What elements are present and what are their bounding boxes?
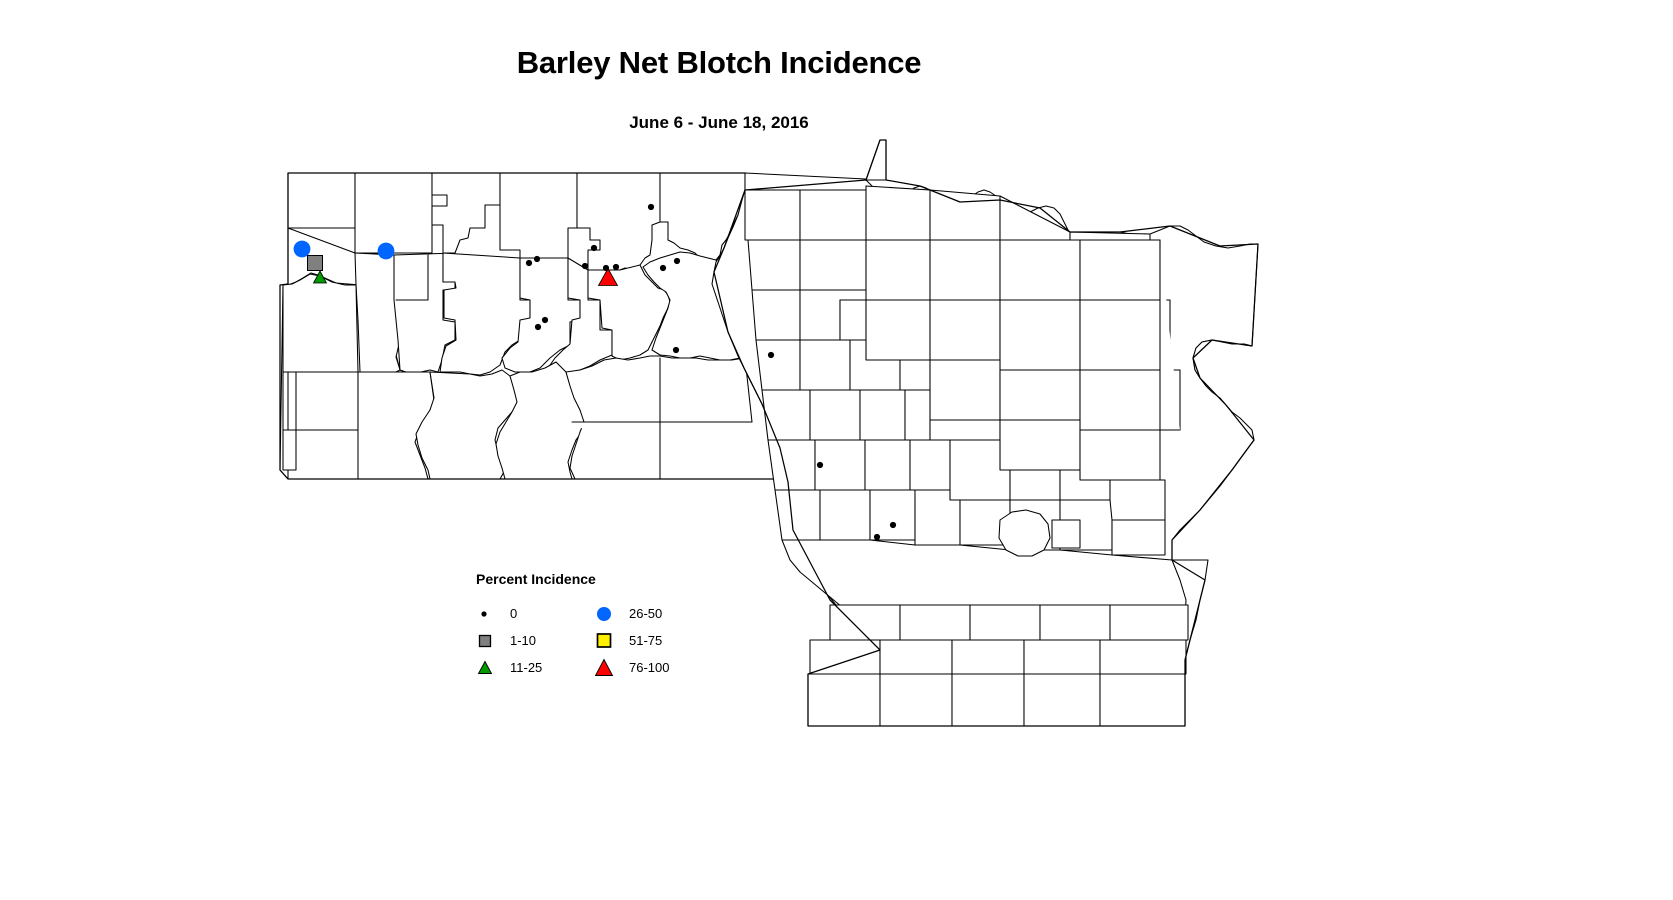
- legend-item-11-25: 11-25: [476, 656, 596, 683]
- red-triangle-icon: [595, 656, 621, 680]
- north-dakota-counties: [280, 173, 787, 479]
- yellow-square-icon: [595, 629, 621, 653]
- legend-label-1-10: 1-10: [510, 632, 536, 650]
- legend-item-1-10: 1-10: [476, 629, 596, 656]
- map-marker-small-black-dot: [603, 265, 609, 271]
- map-marker-small-black-dot: [534, 256, 540, 262]
- map-marker-small-black-dot: [591, 245, 597, 251]
- map-canvas: [0, 0, 1673, 900]
- legend-label-51-75: 51-75: [629, 632, 662, 650]
- blue-circle-icon: [595, 602, 621, 626]
- map-marker-gray-square: [308, 256, 323, 271]
- map-marker-small-black-dot: [768, 352, 774, 358]
- legend-column-left: 0 1-10 11-25: [476, 602, 596, 683]
- legend-column-right: 26-50 51-75 76-100: [595, 602, 715, 683]
- map-marker-small-black-dot: [674, 258, 680, 264]
- map-legend: Percent Incidence 0 1-10 11-25: [476, 570, 706, 680]
- legend-label-76-100: 76-100: [629, 659, 669, 677]
- map-marker-small-black-dot: [817, 462, 823, 468]
- legend-label-0: 0: [510, 605, 517, 623]
- green-triangle-icon: [476, 656, 502, 680]
- small-black-dot-icon: [476, 602, 502, 626]
- map-figure: Barley Net Blotch Incidence June 6 - Jun…: [0, 0, 1673, 900]
- map-marker-small-black-dot: [582, 263, 588, 269]
- map-marker-blue-circle: [378, 243, 395, 260]
- map-marker-small-black-dot: [542, 317, 548, 323]
- legend-item-76-100: 76-100: [595, 656, 715, 683]
- map-marker-small-black-dot: [874, 534, 880, 540]
- map-marker-blue-circle: [294, 241, 311, 258]
- map-marker-small-black-dot: [673, 347, 679, 353]
- legend-title: Percent Incidence: [476, 570, 596, 588]
- legend-item-51-75: 51-75: [595, 629, 715, 656]
- legend-item-0: 0: [476, 602, 596, 629]
- map-marker-small-black-dot: [535, 324, 541, 330]
- map-marker-small-black-dot: [890, 522, 896, 528]
- map-marker-small-black-dot: [613, 264, 619, 270]
- map-marker-small-black-dot: [660, 265, 666, 271]
- legend-item-26-50: 26-50: [595, 602, 715, 629]
- legend-label-11-25: 11-25: [510, 659, 542, 677]
- gray-square-icon: [476, 629, 502, 653]
- map-marker-small-black-dot: [526, 260, 532, 266]
- map-marker-small-black-dot: [648, 204, 654, 210]
- legend-label-26-50: 26-50: [629, 605, 662, 623]
